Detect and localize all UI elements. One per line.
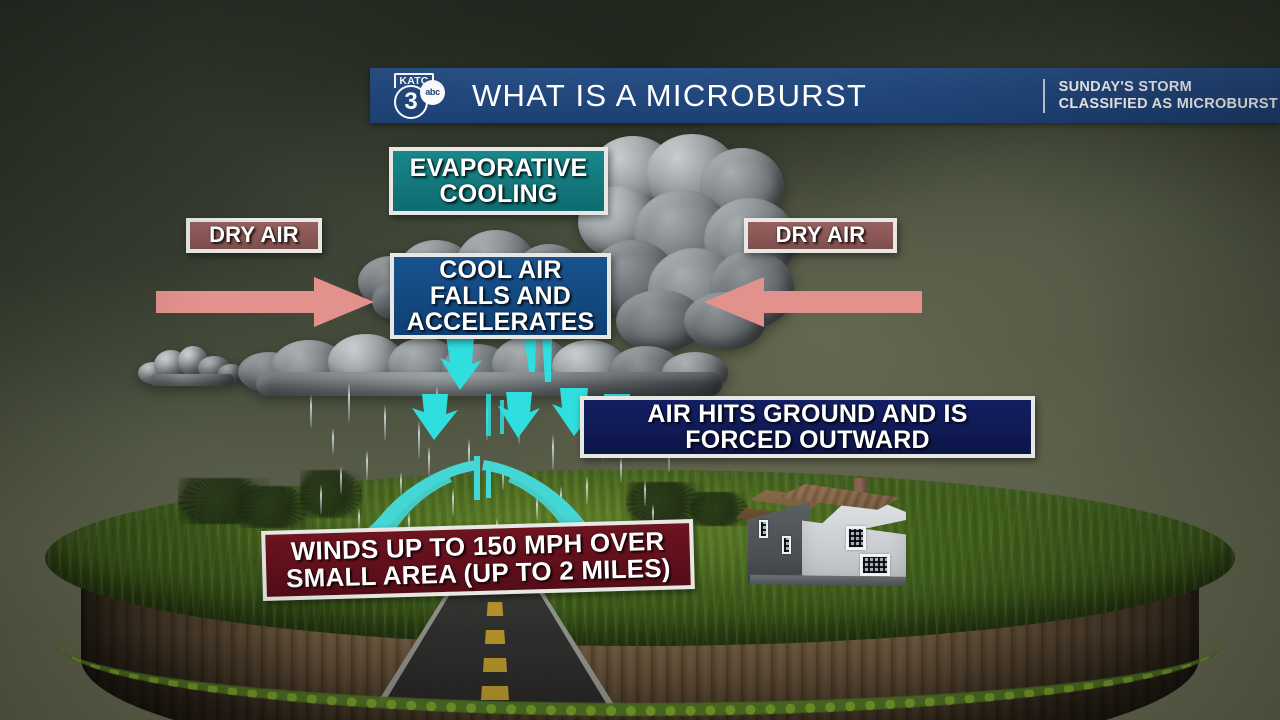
callout-cool-line3: ACCELERATES bbox=[407, 309, 595, 335]
callout-evap-line1: EVAPORATIVE bbox=[410, 155, 588, 181]
banner-subhead-line2: CLASSIFIED AS MICROBURST bbox=[1059, 96, 1278, 113]
house-window-side-a bbox=[759, 520, 768, 538]
page-title: WHAT IS A MICROBURST bbox=[472, 78, 867, 114]
house-window-side-b bbox=[782, 536, 791, 554]
banner-subhead: SUNDAY'S STORM CLASSIFIED AS MICROBURST bbox=[1043, 79, 1278, 113]
callout-cool-line2: FALLS AND bbox=[407, 283, 595, 309]
callout-air-hits-ground: AIR HITS GROUND AND IS FORCED OUTWARD bbox=[580, 396, 1035, 458]
callout-dry-air-right-label: DRY AIR bbox=[776, 224, 866, 247]
callout-hits-line2: FORCED OUTWARD bbox=[647, 427, 967, 453]
dry-air-arrow-left bbox=[156, 277, 374, 327]
cloud-small-left bbox=[132, 344, 252, 392]
dry-air-arrow-right bbox=[704, 277, 922, 327]
callout-dry-air-left-label: DRY AIR bbox=[209, 224, 299, 247]
callout-dry-air-left: DRY AIR bbox=[186, 218, 322, 253]
callout-winds-speed: WINDS UP TO 150 MPH OVER SMALL AREA (UP … bbox=[261, 519, 695, 601]
katc-3-logo: KATC abc 3 bbox=[390, 72, 456, 120]
callout-cool-line1: COOL AIR bbox=[407, 257, 595, 283]
logo-channel-number: 3 bbox=[394, 85, 428, 119]
callout-cool-air-falls: COOL AIR FALLS AND ACCELERATES bbox=[390, 253, 611, 339]
header-banner: KATC abc 3 WHAT IS A MICROBURST SUNDAY'S… bbox=[370, 68, 1280, 123]
house bbox=[732, 478, 910, 598]
callout-evap-line2: COOLING bbox=[410, 181, 588, 207]
callout-evaporative-cooling: EVAPORATIVE COOLING bbox=[389, 147, 608, 215]
house-window-lower bbox=[860, 554, 890, 576]
callout-dry-air-right: DRY AIR bbox=[744, 218, 897, 253]
microburst-graphic: EVAPORATIVE COOLING COOL AIR FALLS AND A… bbox=[0, 0, 1280, 720]
callout-hits-line1: AIR HITS GROUND AND IS bbox=[647, 401, 967, 427]
grass-fringe bbox=[59, 570, 1221, 716]
house-window-upper bbox=[846, 526, 866, 550]
banner-subhead-line1: SUNDAY'S STORM bbox=[1059, 79, 1278, 96]
